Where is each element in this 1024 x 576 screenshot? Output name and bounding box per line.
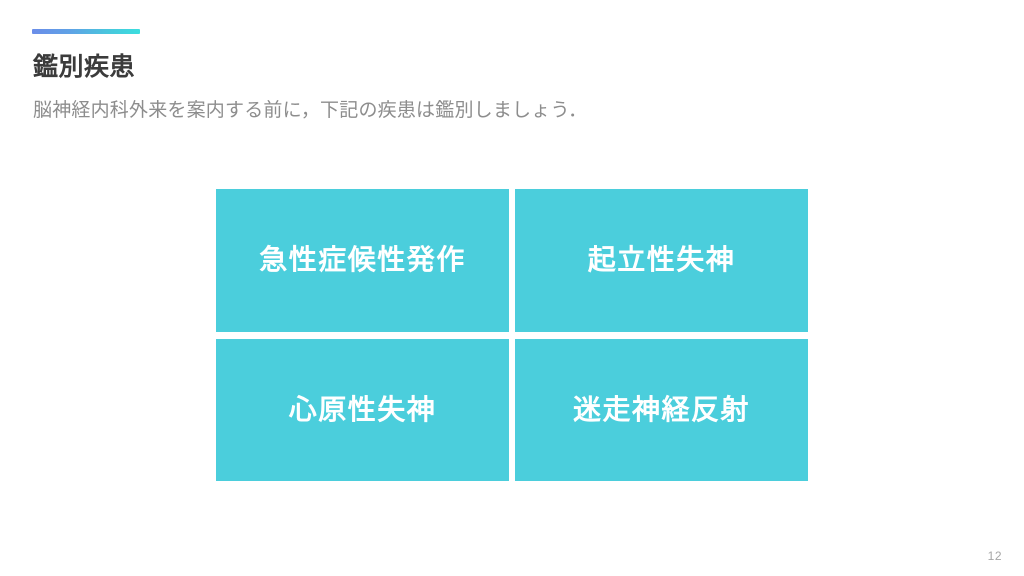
diagnosis-card-3[interactable]: 心原性失神: [216, 339, 509, 482]
slide-canvas: 鑑別疾患 脳神経内科外来を案内する前に，下記の疾患は鑑別しましょう． 急性症候性…: [0, 0, 1024, 576]
diagnosis-card-1[interactable]: 急性症候性発作: [216, 189, 509, 332]
diagnosis-card-label: 急性症候性発作: [259, 243, 466, 277]
page-number: 12: [988, 548, 1002, 564]
page-subtitle: 脳神経内科外来を案内する前に，下記の疾患は鑑別しましょう．: [33, 97, 587, 125]
diagnosis-card-label: 迷走神経反射: [573, 393, 750, 427]
differential-diagnosis-grid: 急性症候性発作 起立性失神 心原性失神 迷走神経反射: [216, 189, 808, 481]
page-title: 鑑別疾患: [33, 50, 135, 84]
diagnosis-card-2[interactable]: 起立性失神: [515, 189, 808, 332]
diagnosis-card-label: 心原性失神: [289, 393, 437, 427]
diagnosis-card-label: 起立性失神: [588, 243, 736, 277]
accent-bar-icon: [32, 29, 140, 34]
diagnosis-card-4[interactable]: 迷走神経反射: [515, 339, 808, 482]
